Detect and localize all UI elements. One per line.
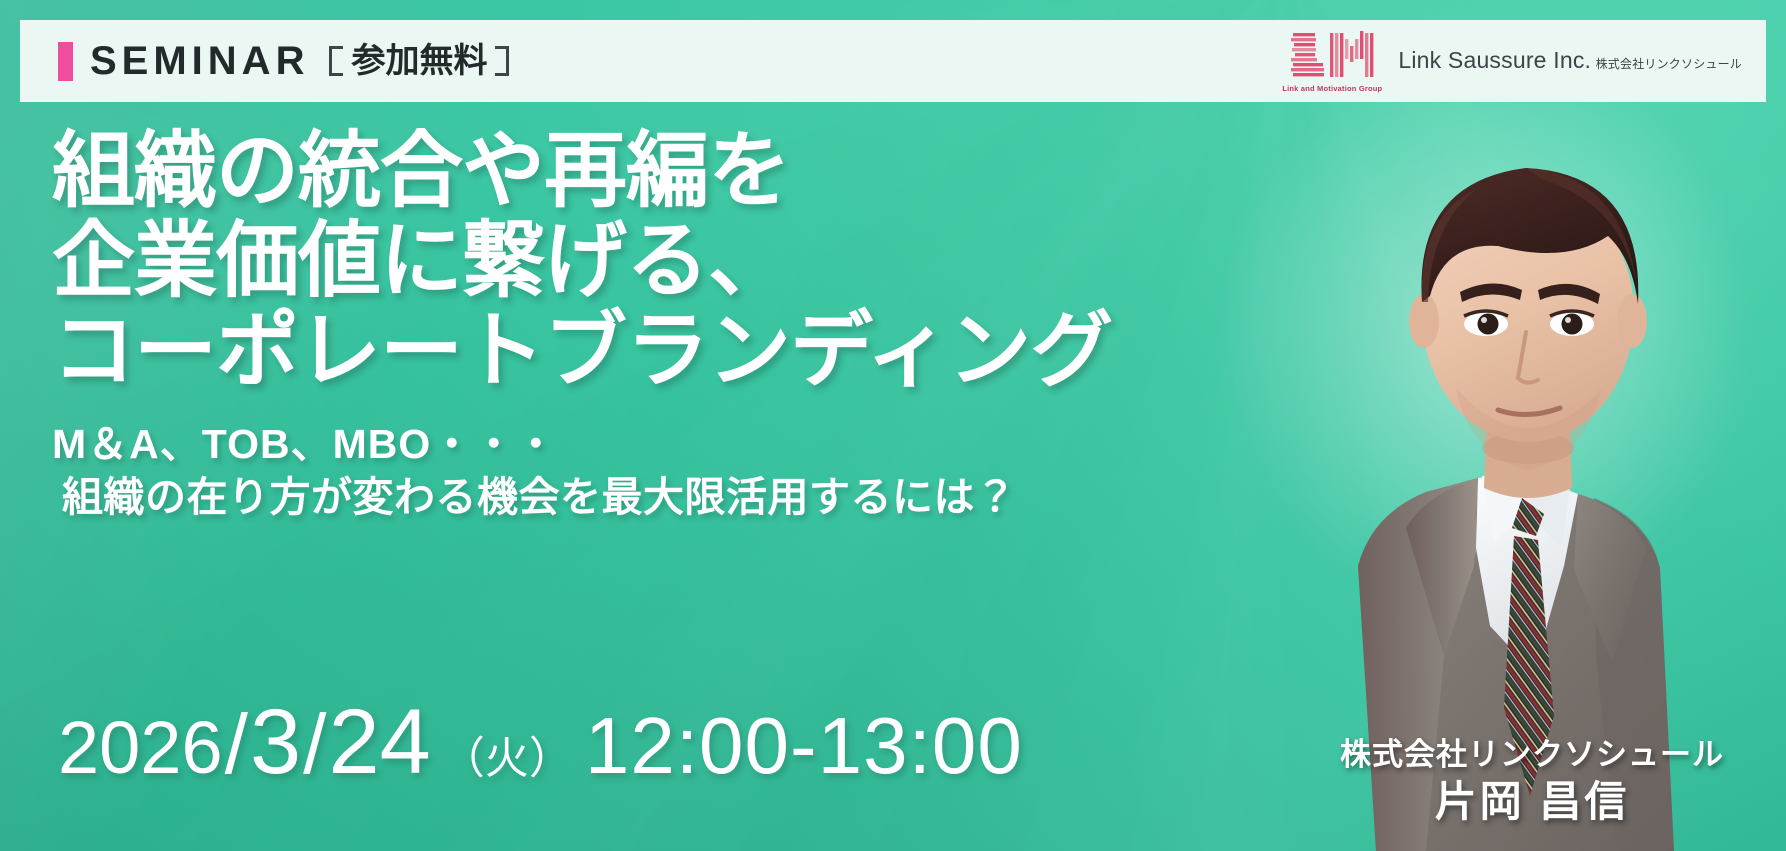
schedule-weekday: （火）	[441, 722, 573, 786]
speaker-name: 片岡 昌信	[1340, 777, 1724, 827]
seminar-badge: SEMINAR 参加無料	[58, 41, 509, 81]
bracket-left-icon	[329, 44, 345, 78]
lm-mark-icon: Link and Motivation Group	[1282, 30, 1382, 93]
speaker-caption: 株式会社リンクソシュール 片岡 昌信	[1340, 737, 1724, 827]
schedule-year: 2026	[58, 705, 223, 790]
company-logo[interactable]: Link and Motivation Group Link Saussure …	[1282, 30, 1742, 93]
subheadline-line-2: 組織の在り方が変わる機会を最大限活用するには？	[52, 471, 1212, 524]
schedule-sep-2: /	[301, 696, 328, 793]
seminar-banner: SEMINAR 参加無料	[0, 0, 1786, 851]
schedule-sep-1: /	[223, 696, 250, 793]
schedule: 2026 / 3 / 24 （火） 12:00-13:00	[58, 690, 1023, 795]
schedule-day: 24	[328, 690, 430, 795]
subheadline-line-1: M＆A、TOB、MBO・・・	[52, 418, 1212, 470]
headline: 組織の統合や再編を 企業価値に繋げる、 コーポレートブランディング	[52, 126, 1212, 396]
bracket-right-icon	[493, 44, 509, 78]
headline-line-3: コーポレートブランディング	[52, 306, 1212, 396]
company-name-jp: 株式会社リンクソシュール	[1596, 57, 1742, 71]
speaker-company: 株式会社リンクソシュール	[1340, 737, 1724, 774]
accent-bar-icon	[58, 42, 73, 81]
schedule-month: 3	[250, 690, 301, 795]
seminar-label: SEMINAR	[90, 41, 309, 81]
headline-line-1: 組織の統合や再編を	[52, 126, 1212, 216]
speaker-photo: 株式会社リンクソシュール 片岡 昌信	[1126, 96, 1786, 851]
schedule-time: 12:00-13:00	[585, 700, 1023, 792]
headline-line-2: 企業価値に繋げる、	[52, 216, 1212, 306]
free-admission-tag: 参加無料	[329, 44, 509, 78]
company-name-block: Link Saussure Inc. 株式会社リンクソシュール	[1398, 47, 1742, 74]
lm-mark-caption: Link and Motivation Group	[1282, 84, 1382, 93]
main-copy: 組織の統合や再編を 企業価値に繋げる、 コーポレートブランディング M＆A、TO…	[52, 126, 1212, 524]
header-bar: SEMINAR 参加無料	[20, 20, 1766, 102]
company-name-en: Link Saussure Inc.	[1398, 47, 1591, 73]
subheadline: M＆A、TOB、MBO・・・ 組織の在り方が変わる機会を最大限活用するには？	[52, 418, 1212, 524]
free-admission-label: 参加無料	[345, 44, 493, 78]
